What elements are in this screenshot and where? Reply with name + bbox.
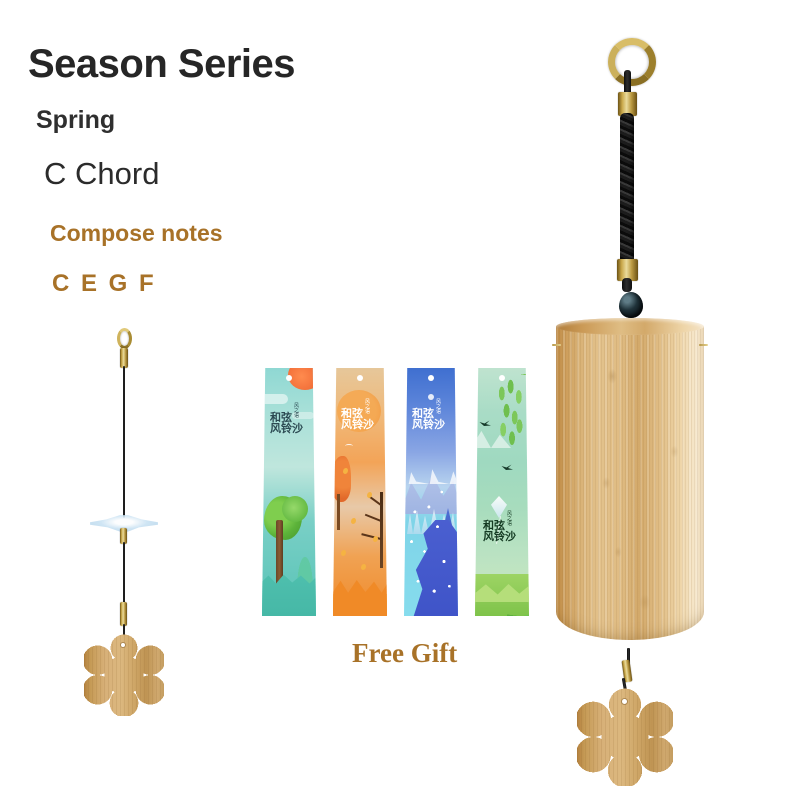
swallow-icon — [479, 420, 492, 427]
autumn-tree-canopy — [333, 456, 351, 502]
cloud-shape — [262, 394, 288, 404]
caption-small: 风之语 — [436, 400, 445, 415]
caption-small: 风之语 — [294, 404, 303, 419]
bookmark-hole — [499, 375, 505, 381]
swallow-icon — [501, 464, 514, 471]
bookmark-summer[interactable]: 和弦 风铃沙 风之语 — [475, 368, 529, 616]
chord-label: C Chord — [44, 156, 159, 192]
caption-small: 风之语 — [507, 512, 516, 527]
caption-small: 风之语 — [365, 400, 374, 415]
brass-hanger-ring-icon — [608, 38, 656, 86]
bookmark-hole — [428, 375, 434, 381]
bamboo-resonator-tube — [556, 318, 704, 648]
braided-cord — [620, 113, 634, 265]
bookmark-autumn[interactable]: 和弦 风铃沙 风之语 — [333, 368, 387, 616]
tube-top-rim — [556, 318, 704, 335]
bookmark-caption: 和弦 风铃沙 风之语 — [270, 412, 303, 434]
striker-assembly — [84, 328, 178, 700]
brass-lobster-clasp-icon — [117, 328, 132, 349]
caption-line-2: 风铃沙 — [412, 419, 445, 430]
ground-band — [333, 576, 387, 616]
cord-knot — [622, 278, 632, 292]
compose-notes-label: Compose notes — [50, 220, 223, 247]
caption-line-2: 风铃沙 — [483, 531, 516, 542]
bookmark-hole — [357, 375, 363, 381]
free-gift-label: Free Gift — [352, 638, 457, 669]
bamboo-flower-wind-catcher — [577, 688, 673, 786]
falling-leaf — [341, 550, 346, 556]
dark-glass-bead — [619, 292, 643, 318]
willow-leaves — [495, 378, 529, 464]
bird-icon — [345, 444, 353, 448]
page-title: Season Series — [28, 42, 295, 87]
sun-icon — [288, 368, 316, 390]
bookmark-spring[interactable]: 和弦 风铃沙 风之语 — [262, 368, 316, 616]
striker-cord-upper — [123, 366, 125, 518]
snowflakes — [404, 368, 458, 616]
product-image-canvas: Season Series Spring C Chord Compose not… — [0, 0, 800, 800]
bamboo-grain-texture — [556, 326, 704, 640]
free-gift-bookmark-set: 和弦 风铃沙 风之语 和弦 — [262, 368, 552, 618]
caption-line-2: 风铃沙 — [270, 423, 303, 434]
grass-blades — [507, 580, 529, 616]
caption-line-2: 风铃沙 — [341, 419, 374, 430]
tree-branch — [361, 533, 381, 539]
brass-ferrule — [120, 348, 128, 368]
autumn-tree-trunk — [337, 494, 340, 530]
falling-leaf — [373, 536, 378, 542]
bamboo-flower-wind-catcher — [84, 634, 164, 716]
striker-cord-mid — [123, 542, 125, 604]
falling-leaf — [361, 564, 366, 570]
bookmark-winter[interactable]: 和弦 风铃沙 风之语 — [404, 368, 458, 616]
bookmark-caption: 和弦 风铃沙 风之语 — [412, 408, 445, 430]
tube-body — [556, 326, 704, 640]
falling-leaf — [351, 518, 356, 524]
bookmark-caption: 和弦 风铃沙 风之语 — [483, 520, 516, 542]
tube-mount-pin — [699, 344, 708, 346]
tube-mount-pin — [552, 344, 561, 346]
pendant-hole — [622, 699, 627, 704]
bookmark-hole — [286, 375, 292, 381]
bookmark-caption: 和弦 风铃沙 风之语 — [341, 408, 374, 430]
brass-ferrule — [120, 602, 127, 626]
tree-canopy-highlight — [282, 496, 308, 522]
tree-branch — [365, 514, 381, 522]
pendant-hole — [121, 643, 125, 647]
season-label: Spring — [36, 106, 115, 135]
notes-value: C E G F — [52, 270, 156, 298]
kite-icon — [491, 496, 507, 518]
